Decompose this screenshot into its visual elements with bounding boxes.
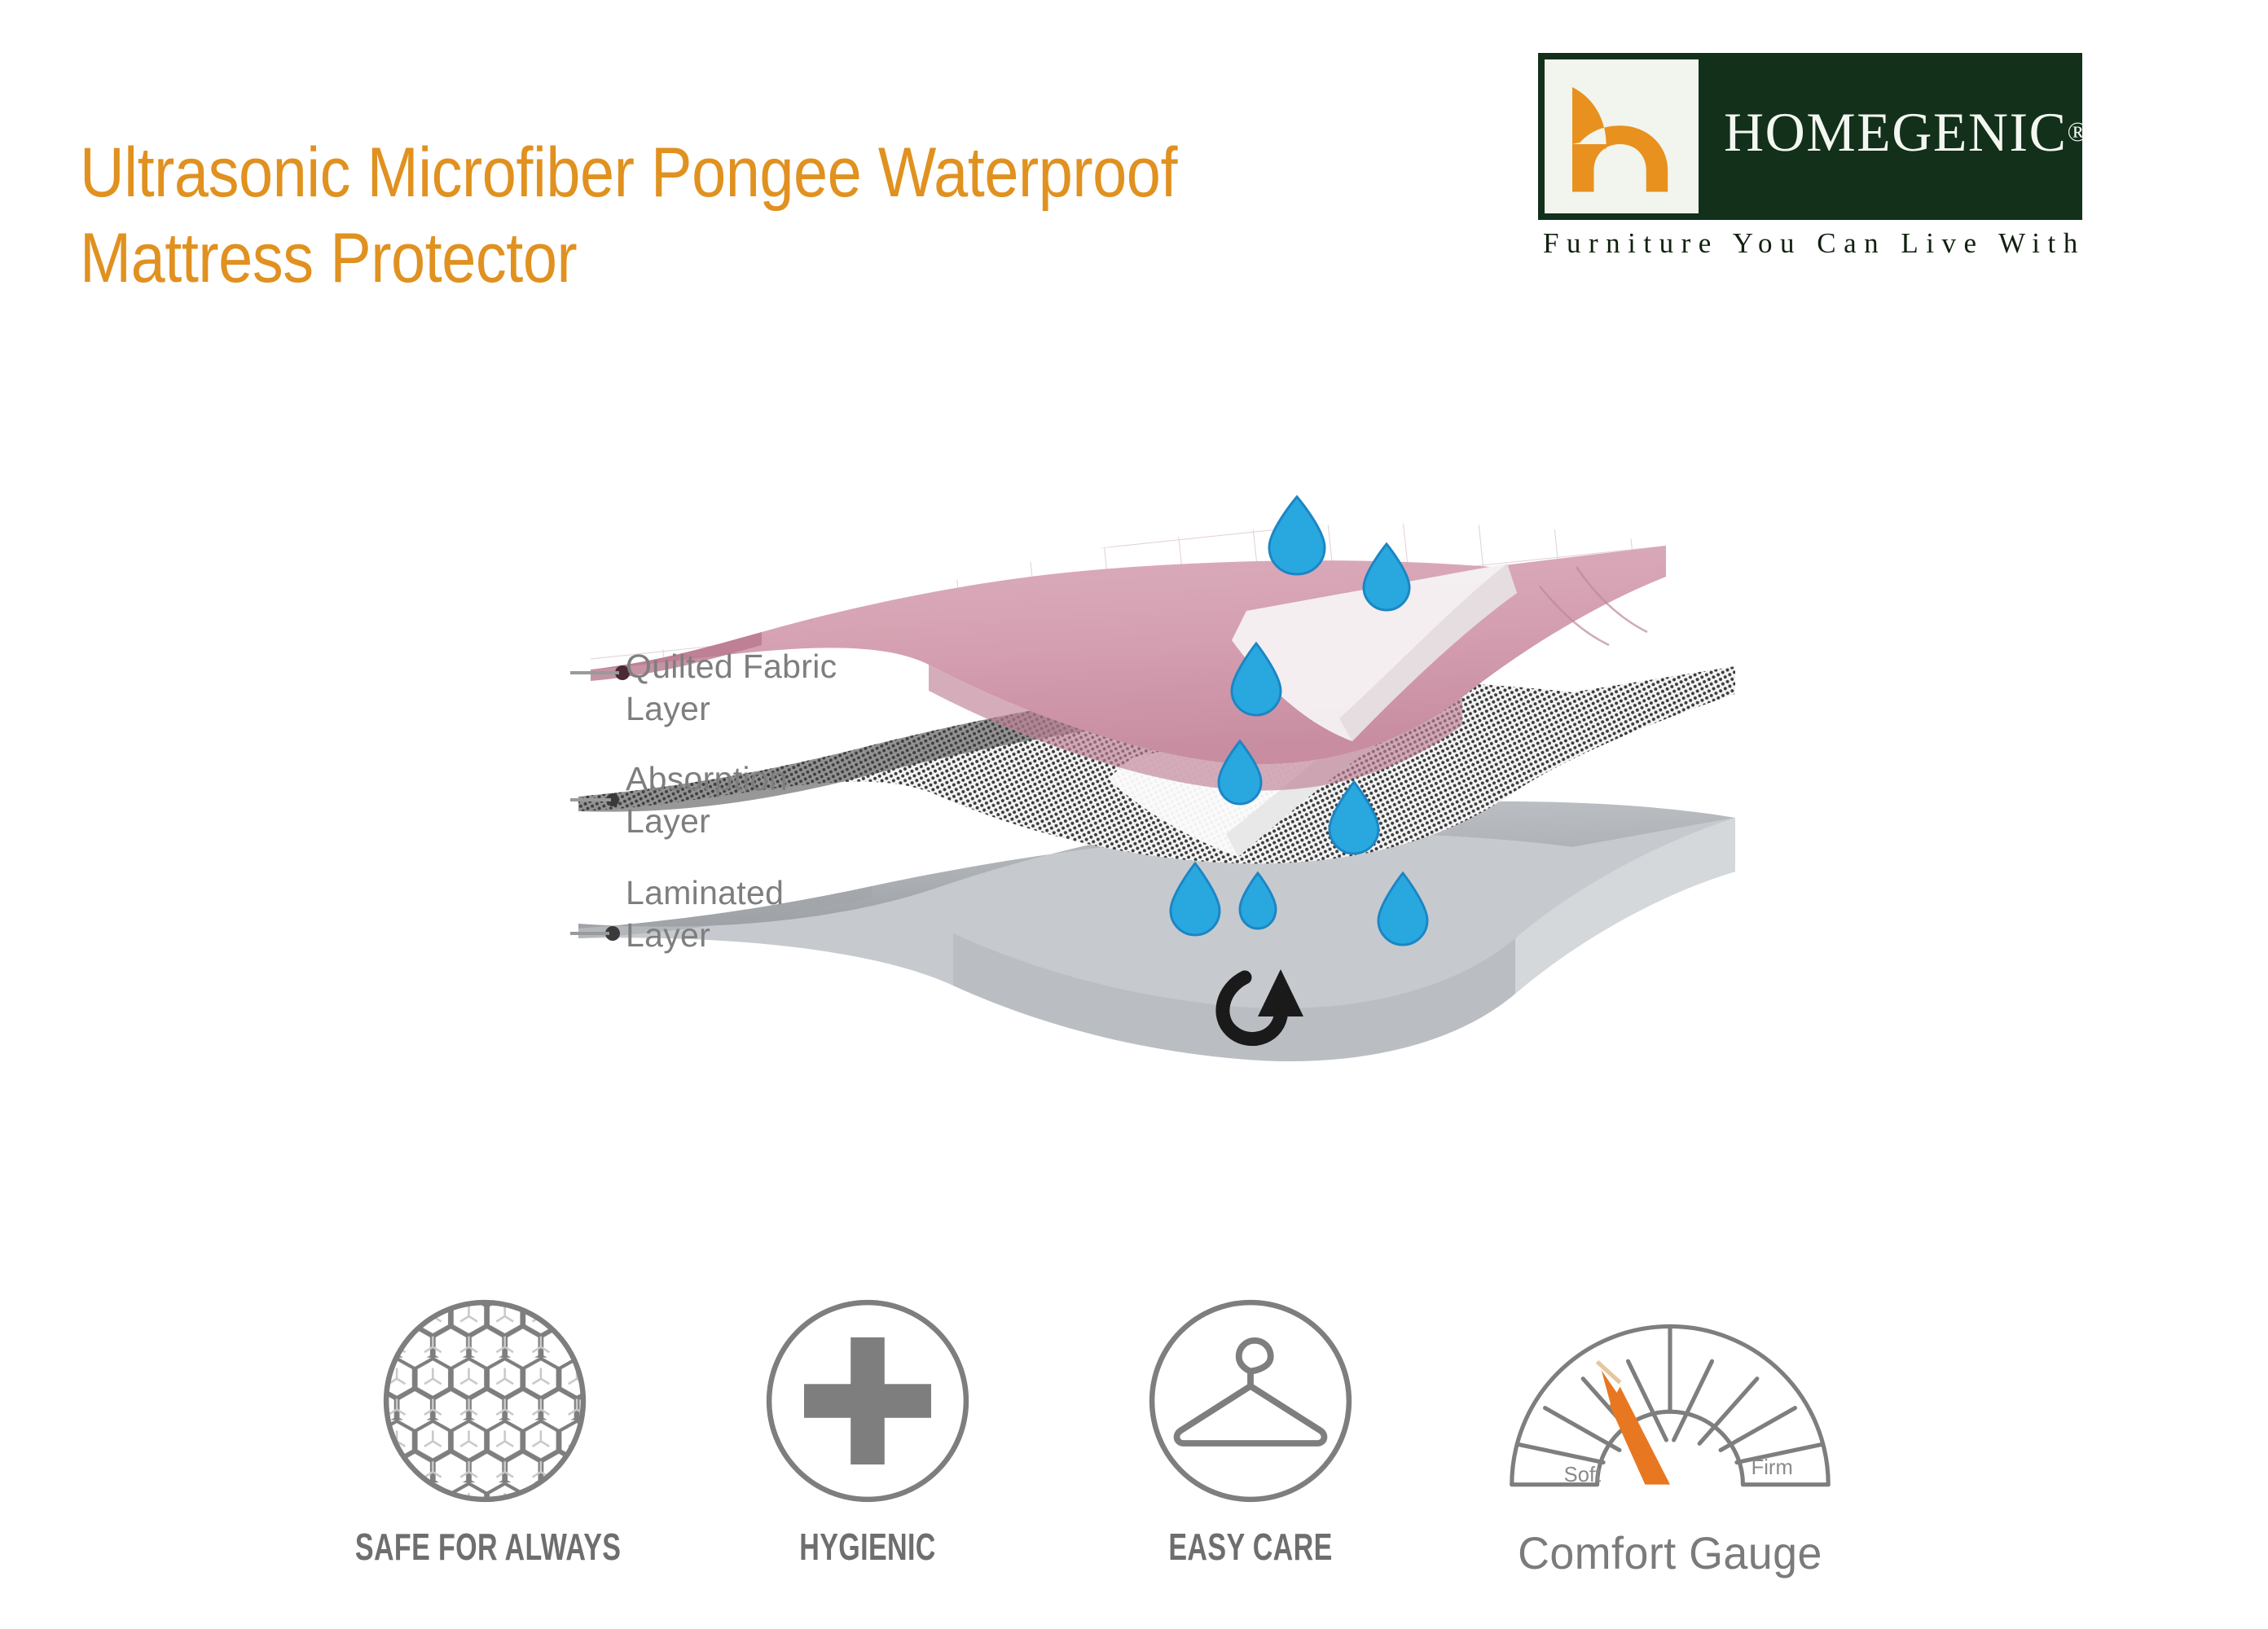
layer-label-absorption: Absorption Layer	[626, 757, 788, 843]
brand-tagline: Furniture You Can Live With	[1543, 227, 2082, 260]
comfort-gauge-icon: Soft Firm	[1475, 1310, 1866, 1497]
registered-trademark-icon: ®	[2067, 117, 2088, 147]
feature-safe-for-always: SAFE FOR ALWAYS	[310, 1295, 660, 1569]
feature-hygienic: HYGIENIC	[692, 1295, 1043, 1569]
feature-label-safe: SAFE FOR ALWAYS	[355, 1525, 614, 1569]
brand-logo: HOMEGENIC® Furniture You Can Live With	[1538, 53, 2082, 269]
layer-label-quilted: Quilted Fabric Layer	[626, 645, 837, 731]
page-title: Ultrasonic Microfiber Pongee Waterproof …	[80, 130, 1342, 301]
feature-label-comfort-gauge: Comfort Gauge	[1466, 1526, 1873, 1579]
feature-comfort-gauge: Soft Firm Comfort Gauge	[1458, 1295, 1882, 1579]
feature-row: SAFE FOR ALWAYS HYGIENIC EASY CARE	[310, 1295, 1988, 1621]
feature-label-easy-care: EASY CARE	[1121, 1525, 1380, 1569]
gauge-firm-label: Firm	[1752, 1456, 1793, 1479]
logo-plate: HOMEGENIC®	[1538, 53, 2082, 220]
plus-circle-icon	[762, 1295, 974, 1507]
feature-label-hygienic: HYGIENIC	[738, 1525, 997, 1569]
gauge-soft-label: Soft	[1564, 1464, 1601, 1486]
brand-wordmark-text: HOMEGENIC	[1724, 101, 2067, 163]
homegenic-h-chair-icon	[1543, 58, 1700, 215]
clothes-hanger-circle-icon	[1145, 1295, 1356, 1507]
honeycomb-circle-icon	[379, 1295, 591, 1507]
exploded-layer-diagram: Quilted Fabric Layer Absorption Layer La…	[570, 489, 1792, 1091]
brand-wordmark: HOMEGENIC®	[1724, 100, 2088, 165]
feature-easy-care: EASY CARE	[1075, 1295, 1426, 1569]
layer-label-laminated: Laminated Layer	[626, 872, 784, 957]
